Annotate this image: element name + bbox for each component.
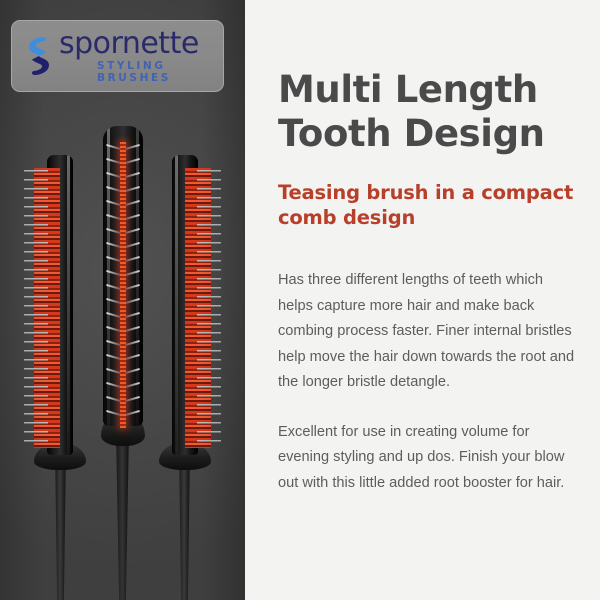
content-panel: Multi Length Tooth Design Teasing brush … — [245, 0, 600, 600]
head-highlight — [175, 155, 178, 455]
body-paragraph-2: Excellent for use in creating volume for… — [278, 420, 578, 497]
headline-line-2: Tooth Design — [278, 112, 545, 155]
brand-logo-badge: spornette STYLING BRUSHES — [11, 20, 224, 92]
head-highlight — [107, 126, 110, 426]
brush-handle — [113, 432, 132, 600]
product-feature-banner: spornette STYLING BRUSHES Multi Length T… — [0, 0, 600, 600]
subheading: Teasing brush in a compact comb design — [278, 180, 578, 230]
brand-tagline: STYLING BRUSHES — [97, 60, 223, 84]
spornette-s-mark-icon — [26, 36, 52, 76]
teeth-row-gray — [197, 170, 221, 448]
page-title: Multi Length Tooth Design — [278, 68, 578, 156]
content-block: Multi Length Tooth Design Teasing brush … — [278, 68, 578, 496]
brush-handle — [176, 452, 193, 600]
product-image-panel: spornette STYLING BRUSHES — [0, 0, 245, 600]
brand-name: spornette — [59, 29, 223, 59]
brush-handle — [52, 452, 69, 600]
headline-line-1: Multi Length — [278, 68, 538, 111]
brand-logo-text: spornette STYLING BRUSHES — [59, 29, 223, 84]
head-highlight — [67, 155, 70, 455]
body-paragraph-1: Has three different lengths of teeth whi… — [278, 268, 578, 396]
teeth-row-gray — [24, 170, 48, 448]
